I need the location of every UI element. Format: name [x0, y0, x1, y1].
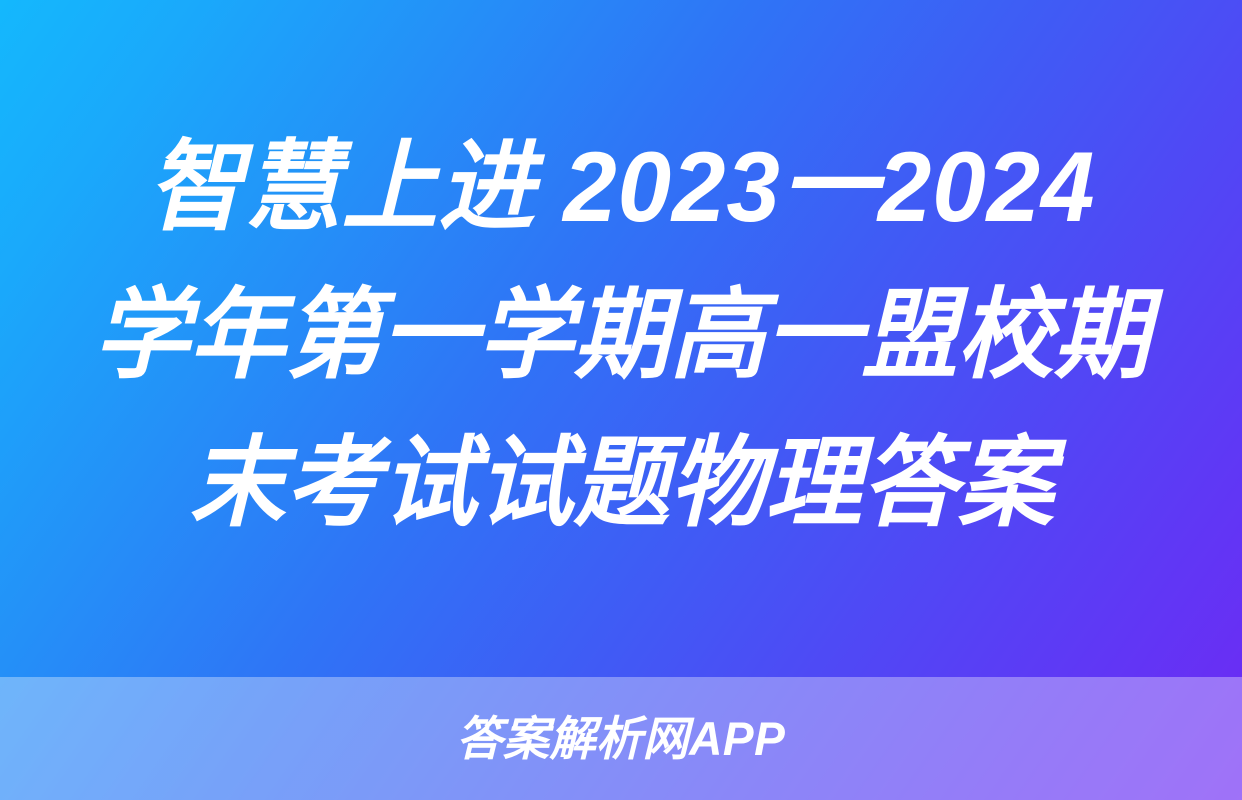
watermark-band: 答案解析网APP [0, 677, 1242, 800]
headline-line-2: 学年第一学期高一盟校期 [93, 261, 1149, 409]
headline-block: 智慧上进 2023一2024 学年第一学期高一盟校期 末考试试题物理答案 [0, 0, 1242, 677]
headline-line-3: 末考试试题物理答案 [189, 409, 1053, 557]
headline-line-1: 智慧上进 2023一2024 [147, 113, 1095, 261]
poster-canvas: 智慧上进 2023一2024 学年第一学期高一盟校期 末考试试题物理答案 答案解… [0, 0, 1242, 800]
watermark-app-label: 答案解析网APP [457, 715, 786, 762]
